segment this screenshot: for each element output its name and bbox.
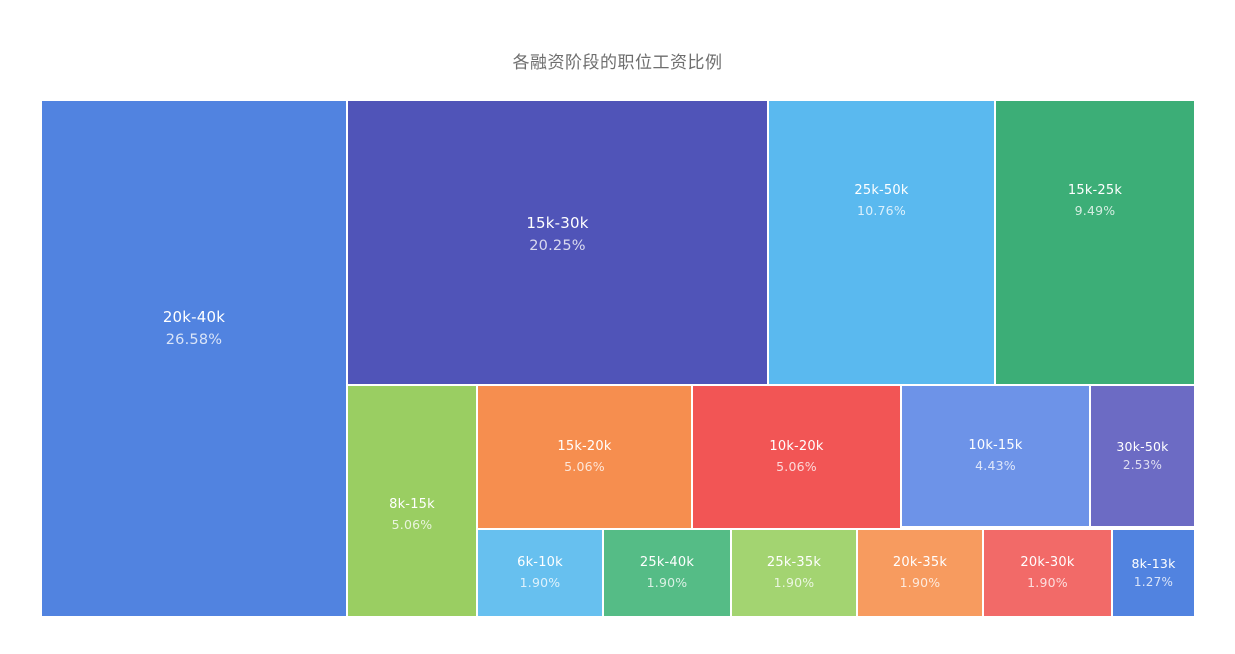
treemap-cell[interactable]: 20k-30k1.90% — [983, 529, 1112, 617]
treemap-cell-label: 8k-13k — [1131, 554, 1175, 573]
treemap-cell-text: 6k-10k1.90% — [517, 553, 563, 593]
treemap-cell-text: 10k-20k5.06% — [769, 437, 823, 477]
treemap-cell-label: 15k-30k — [526, 212, 588, 235]
treemap-cell-value: 26.58% — [163, 329, 225, 351]
treemap-cell-text: 10k-15k4.43% — [968, 436, 1022, 476]
treemap-cell-value: 5.06% — [769, 457, 823, 476]
treemap-cell[interactable]: 10k-20k5.06% — [692, 385, 901, 529]
treemap-cell-label: 8k-15k — [389, 495, 435, 515]
treemap-cell-value: 1.90% — [517, 573, 563, 592]
treemap-cell[interactable]: 15k-30k20.25% — [347, 100, 768, 385]
treemap-cell-label: 25k-40k — [640, 553, 694, 573]
treemap-cell-text: 25k-50k10.76% — [854, 181, 908, 221]
treemap-cell[interactable]: 8k-15k5.06% — [347, 385, 477, 617]
treemap-cell-value: 5.06% — [389, 515, 435, 534]
treemap-cell-text: 20k-40k26.58% — [163, 306, 225, 352]
treemap-cell[interactable]: 25k-40k1.90% — [603, 529, 731, 617]
treemap-cell[interactable]: 15k-20k5.06% — [477, 385, 692, 529]
treemap-cell-label: 10k-15k — [968, 436, 1022, 456]
treemap-cell-value: 1.90% — [1020, 573, 1074, 592]
treemap-cell[interactable]: 10k-15k4.43% — [901, 385, 1090, 527]
treemap-cell[interactable]: 8k-13k1.27% — [1112, 529, 1195, 617]
treemap-cell[interactable]: 30k-50k2.53% — [1090, 385, 1195, 527]
treemap-cell-value: 1.90% — [767, 573, 821, 592]
treemap-cell[interactable]: 20k-40k26.58% — [41, 100, 347, 617]
treemap-cell-label: 15k-25k — [1068, 181, 1122, 201]
treemap-cell-value: 9.49% — [1068, 201, 1122, 220]
treemap-cell-value: 5.06% — [557, 457, 611, 476]
treemap-cell[interactable]: 25k-50k10.76% — [768, 100, 995, 385]
treemap-cell-text: 20k-35k1.90% — [893, 553, 947, 593]
treemap-chart: 各融资阶段的职位工资比例 20k-40k26.58%15k-30k20.25%2… — [0, 0, 1235, 654]
treemap-cell[interactable]: 6k-10k1.90% — [477, 529, 603, 617]
treemap-plot-area: 20k-40k26.58%15k-30k20.25%25k-50k10.76%1… — [41, 100, 1195, 617]
treemap-cell-label: 20k-30k — [1020, 553, 1074, 573]
treemap-cell-label: 30k-50k — [1116, 437, 1168, 456]
treemap-cell-value: 10.76% — [854, 201, 908, 220]
treemap-cell-label: 25k-50k — [854, 181, 908, 201]
treemap-cell-text: 25k-40k1.90% — [640, 553, 694, 593]
treemap-cell-text: 8k-13k1.27% — [1131, 554, 1175, 592]
treemap-cell-value: 2.53% — [1116, 456, 1168, 475]
treemap-cell-text: 30k-50k2.53% — [1116, 437, 1168, 475]
treemap-cell-text: 25k-35k1.90% — [767, 553, 821, 593]
treemap-cell-label: 25k-35k — [767, 553, 821, 573]
chart-title: 各融资阶段的职位工资比例 — [0, 48, 1235, 73]
treemap-cell-text: 15k-30k20.25% — [526, 212, 588, 258]
treemap-cell-text: 15k-25k9.49% — [1068, 181, 1122, 221]
treemap-cell-value: 20.25% — [526, 235, 588, 257]
treemap-cell-text: 15k-20k5.06% — [557, 437, 611, 477]
treemap-cell-label: 10k-20k — [769, 437, 823, 457]
treemap-cell-value: 4.43% — [968, 456, 1022, 475]
treemap-cell-label: 20k-35k — [893, 553, 947, 573]
treemap-cell-value: 1.27% — [1131, 573, 1175, 592]
treemap-cell[interactable]: 15k-25k9.49% — [995, 100, 1195, 385]
treemap-cell-label: 20k-40k — [163, 306, 225, 329]
treemap-cell[interactable]: 20k-35k1.90% — [857, 529, 983, 617]
treemap-cell-label: 6k-10k — [517, 553, 563, 573]
treemap-cell-value: 1.90% — [640, 573, 694, 592]
treemap-cell-label: 15k-20k — [557, 437, 611, 457]
treemap-cell-value: 1.90% — [893, 573, 947, 592]
treemap-cell-text: 20k-30k1.90% — [1020, 553, 1074, 593]
treemap-cell[interactable]: 25k-35k1.90% — [731, 529, 857, 617]
treemap-cell-text: 8k-15k5.06% — [389, 495, 435, 535]
